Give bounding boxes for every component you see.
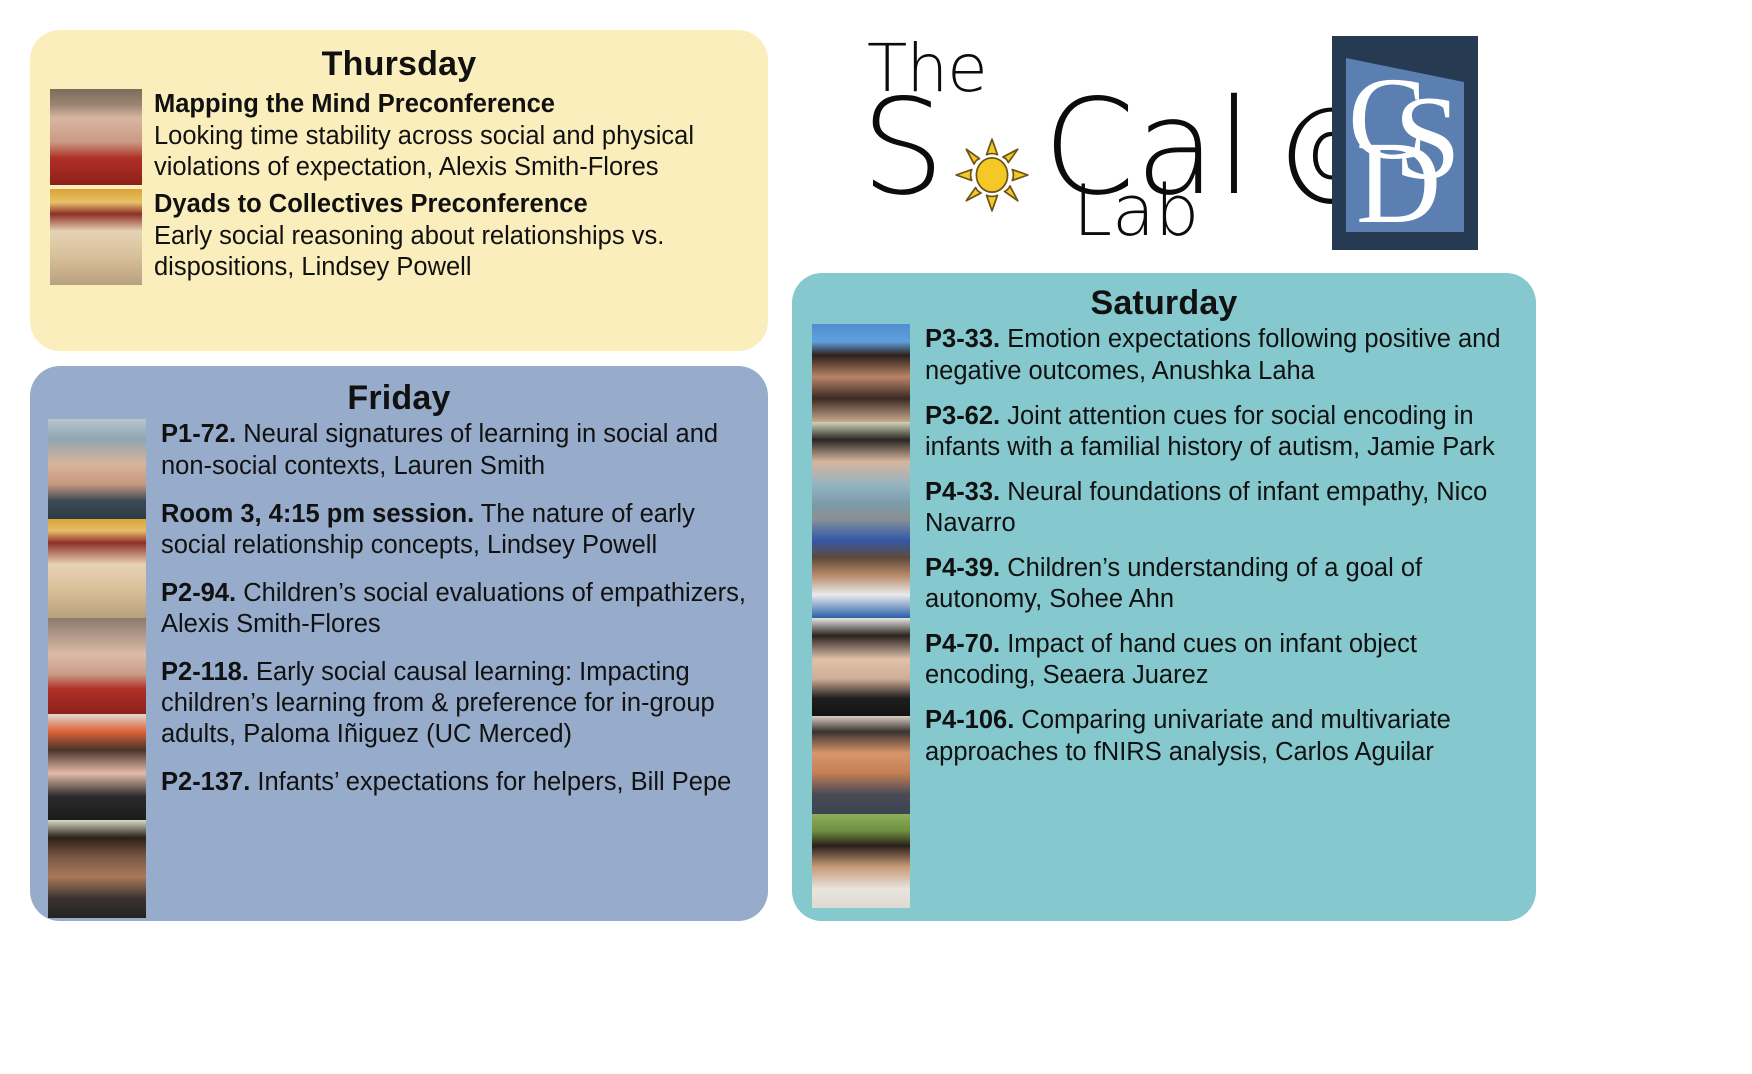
thursday-entry-1-label: Dyads to Collectives Preconference — [154, 190, 588, 218]
logo-text-lab: Lab — [1073, 176, 1199, 246]
saturday-entry-1-text: P3-62. Joint attention cues for social e… — [925, 401, 1522, 463]
saturday-entry-2-text: P4-33. Neural foundations of infant empa… — [925, 477, 1522, 539]
saturday-entry-0-label: P3-33. — [925, 325, 1000, 353]
friday-title: Friday — [44, 380, 754, 417]
portrait-carlos-aguilar — [812, 814, 910, 908]
saturday-entry-2-label: P4-33. — [925, 478, 1000, 506]
saturday-entry-4-text: P4-70. Impact of hand cues on infant obj… — [925, 629, 1522, 691]
friday-entry-0-text: P1-72. Neural signatures of learning in … — [161, 419, 754, 481]
saturday-photo-column — [812, 324, 910, 908]
friday-entry-1-label: Room 3, 4:15 pm session. — [161, 500, 474, 528]
thursday-entry-1-body: Early social reasoning about relationshi… — [154, 222, 664, 281]
portrait-bill-pepe — [48, 820, 146, 918]
friday-entry-4-body: Infants’ expectations for helpers, Bill … — [250, 768, 731, 796]
portrait-lindsey-powell — [50, 189, 142, 285]
saturday-entry-4-label: P4-70. — [925, 630, 1000, 658]
saturday-card: Saturday P3-33. Emotion expectations fol… — [792, 273, 1536, 921]
thursday-card: Thursday Mapping the Mind Preconference … — [30, 30, 768, 351]
portrait-seaera-juarez — [812, 716, 910, 814]
friday-entry-3-label: P2-118. — [161, 658, 249, 686]
saturday-entry-0-text: P3-33. Emotion expectations following po… — [925, 324, 1522, 386]
portrait-lauren-smith — [48, 419, 146, 519]
thursday-title: Thursday — [44, 46, 754, 83]
thursday-entry-0: Mapping the Mind Preconference Looking t… — [50, 89, 754, 185]
logo-text-s: S — [861, 82, 945, 214]
friday-entry-2-label: P2-94. — [161, 579, 236, 607]
saturday-entry-5-text: P4-106. Comparing univariate and multiva… — [925, 705, 1522, 767]
portrait-nico-navarro — [812, 521, 910, 618]
saturday-title: Saturday — [806, 285, 1522, 322]
saturday-entry-0-body: Emotion expectations following positive … — [925, 325, 1501, 384]
friday-entry-1-text: Room 3, 4:15 pm session. The nature of e… — [161, 499, 754, 561]
sun-icon — [953, 136, 1031, 214]
friday-text-column: P1-72. Neural signatures of learning in … — [146, 419, 754, 918]
saturday-text-column: P3-33. Emotion expectations following po… — [910, 324, 1522, 908]
saturday-entry-1-body: Joint attention cues for social encoding… — [925, 402, 1495, 461]
friday-entry-2-body: Children’s social evaluations of empathi… — [161, 579, 746, 638]
saturday-entry-5-label: P4-106. — [925, 706, 1014, 734]
saturday-entry-3-text: P4-39. Children’s understanding of a goa… — [925, 553, 1522, 615]
portrait-sohee-ahn — [812, 618, 910, 716]
thursday-entry-1-text: Dyads to Collectives Preconference Early… — [142, 189, 754, 282]
csd-letter-d: D — [1356, 117, 1441, 248]
friday-card: Friday P1-72. Neural signatures of learn… — [30, 366, 768, 921]
portrait-lindsey-powell — [48, 519, 146, 618]
socal-lab-wordmark: The S Cal Lab @ — [855, 24, 1295, 254]
friday-entry-0-label: P1-72. — [161, 420, 236, 448]
portrait-anushka-laha — [812, 324, 910, 422]
thursday-entry-0-label: Mapping the Mind Preconference — [154, 90, 555, 118]
portrait-jamie-park — [812, 422, 910, 521]
friday-photo-column — [48, 419, 146, 918]
saturday-entry-1-label: P3-62. — [925, 402, 1000, 430]
friday-entry-3-text: P2-118. Early social causal learning: Im… — [161, 657, 754, 750]
portrait-alexis-smith-flores — [48, 618, 146, 714]
thursday-entry-1: Dyads to Collectives Preconference Early… — [50, 189, 754, 285]
friday-entry-4-text: P2-137. Infants’ expectations for helper… — [161, 767, 754, 798]
portrait-alexis-smith-flores — [50, 89, 142, 185]
friday-entry-2-text: P2-94. Children’s social evaluations of … — [161, 578, 754, 640]
csd-logo: C S D — [1332, 36, 1478, 250]
saturday-entry-3-label: P4-39. — [925, 554, 1000, 582]
friday-entry-4-label: P2-137. — [161, 768, 250, 796]
thursday-entry-0-body: Looking time stability across social and… — [154, 122, 694, 181]
friday-entry-0-body: Neural signatures of learning in social … — [161, 420, 718, 479]
portrait-paloma-iniguez — [48, 714, 146, 820]
thursday-entry-0-text: Mapping the Mind Preconference Looking t… — [142, 89, 754, 182]
saturday-entry-2-body: Neural foundations of infant empathy, Ni… — [925, 478, 1487, 537]
saturday-entry-3-body: Children’s understanding of a goal of au… — [925, 554, 1422, 613]
